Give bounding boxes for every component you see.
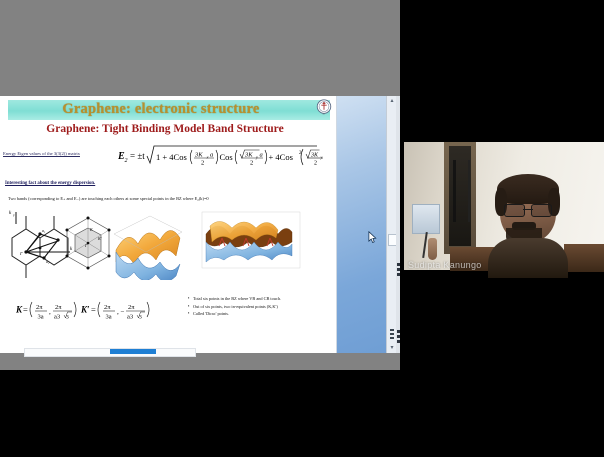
edge-strip-dots-bottom <box>396 328 400 343</box>
svg-text:E: E <box>118 151 125 162</box>
svg-text:3a: 3a <box>38 314 44 321</box>
dirac-cone-figure <box>196 204 306 280</box>
svg-text:2: 2 <box>250 160 253 167</box>
participant-figure <box>486 178 570 272</box>
presentation-slide: Graphene: electronic structure IIT Graph… <box>0 96 336 353</box>
svg-text:a3: a3 <box>54 314 60 321</box>
svg-text:1 + 4Cos: 1 + 4Cos <box>156 152 187 162</box>
svg-text:a: a <box>260 152 263 159</box>
fact-heading: Interesting fact about the energy disper… <box>5 181 95 186</box>
svg-text:K′: K′ <box>80 305 90 315</box>
slide-bullet-list: Total six points in the BZ where VB and … <box>188 296 328 319</box>
scroll-up-icon[interactable]: ▴ <box>388 97 396 105</box>
svg-text:2: 2 <box>201 160 204 167</box>
svg-text:a₁: a₁ <box>42 228 46 233</box>
svg-text:2π: 2π <box>55 304 62 311</box>
list-item: Called 'Dirac' points. <box>188 311 328 316</box>
svg-text:3K: 3K <box>194 152 203 159</box>
eyeglasses-icon <box>504 204 552 215</box>
k-points-formula: K = 2π 3a , 2π a3 3 K′ = 2π <box>16 296 164 324</box>
wall-hanging-object <box>453 160 470 222</box>
list-item: Total six points in the BZ where VB and … <box>188 296 328 301</box>
chair-right <box>564 244 604 272</box>
shared-screen-viewer: Graphene: electronic structure IIT Graph… <box>0 96 396 353</box>
equation-label: Energy Eigen values of the 3(3(2)) matri… <box>3 151 80 156</box>
svg-text:2π: 2π <box>128 304 135 311</box>
svg-text:Γ: Γ <box>19 251 23 256</box>
svg-text:y: y <box>13 213 15 217</box>
scroll-grip-dots <box>390 329 394 341</box>
slide-subtitle: Graphene: Tight Binding Model Band Struc… <box>0 123 330 135</box>
svg-text:y: y <box>320 155 323 160</box>
participant-name-label: Sudipta Kanungo <box>408 260 482 270</box>
bottom-black-chrome <box>0 370 604 457</box>
slide-side-blue-panel <box>336 96 391 353</box>
svg-text:a: a <box>210 152 213 159</box>
svg-text:K': K' <box>97 236 102 241</box>
svg-text:Γ: Γ <box>84 243 88 248</box>
svg-text:2π: 2π <box>104 304 111 311</box>
svg-text:K: K <box>16 305 23 315</box>
horizontal-scroll-thumb[interactable] <box>110 349 156 354</box>
svg-text:=: = <box>23 305 28 315</box>
svg-text:= ±t: = ±t <box>130 151 145 161</box>
institution-seal-logo: IIT <box>315 98 333 116</box>
svg-text:a3: a3 <box>127 314 133 321</box>
list-item: Out of six points, two in-equivalent poi… <box>188 304 328 309</box>
svg-text:2: 2 <box>125 158 128 164</box>
svg-text:x: x <box>206 155 209 160</box>
svg-text:=: = <box>91 305 96 315</box>
svg-text:K: K <box>89 227 93 232</box>
edge-strip-dots-top <box>396 261 400 276</box>
energy-eigenvalue-equation: E 2 = ±t 1 + 4Cos 3K x a 2 Cos 3K <box>118 143 323 171</box>
svg-text:IIT: IIT <box>323 114 326 116</box>
mouse-cursor <box>368 231 377 244</box>
band-structure-surface-left <box>110 204 186 280</box>
svg-text:Cos: Cos <box>220 152 233 162</box>
svg-text:,: , <box>49 308 51 316</box>
svg-text:, −: , − <box>117 308 125 316</box>
svg-text:3a: 3a <box>106 314 112 321</box>
fact-line: Two bands (corresponding to E₊ and E₋) a… <box>8 196 209 202</box>
svg-text:2: 2 <box>314 161 317 167</box>
torso <box>488 238 568 278</box>
svg-text:2π: 2π <box>36 304 43 311</box>
svg-text:3: 3 <box>139 315 142 321</box>
slide-title: Graphene: electronic structure <box>26 101 296 118</box>
svg-text:+ 4Cos: + 4Cos <box>269 152 293 162</box>
wall-switchboard <box>412 204 440 234</box>
svg-text:3K: 3K <box>310 153 319 159</box>
svg-text:k: k <box>9 211 12 216</box>
svg-text:y: y <box>255 155 258 160</box>
scroll-down-icon[interactable]: ▾ <box>388 344 396 352</box>
hanging-object <box>428 238 437 260</box>
participant-video-tile[interactable]: Sudipta Kanungo <box>404 142 604 345</box>
screen-root: Graphene: electronic structure IIT Graph… <box>0 0 604 457</box>
viewer-edge-strip <box>396 96 400 353</box>
svg-text:3K: 3K <box>244 152 253 159</box>
svg-text:3: 3 <box>66 315 69 321</box>
